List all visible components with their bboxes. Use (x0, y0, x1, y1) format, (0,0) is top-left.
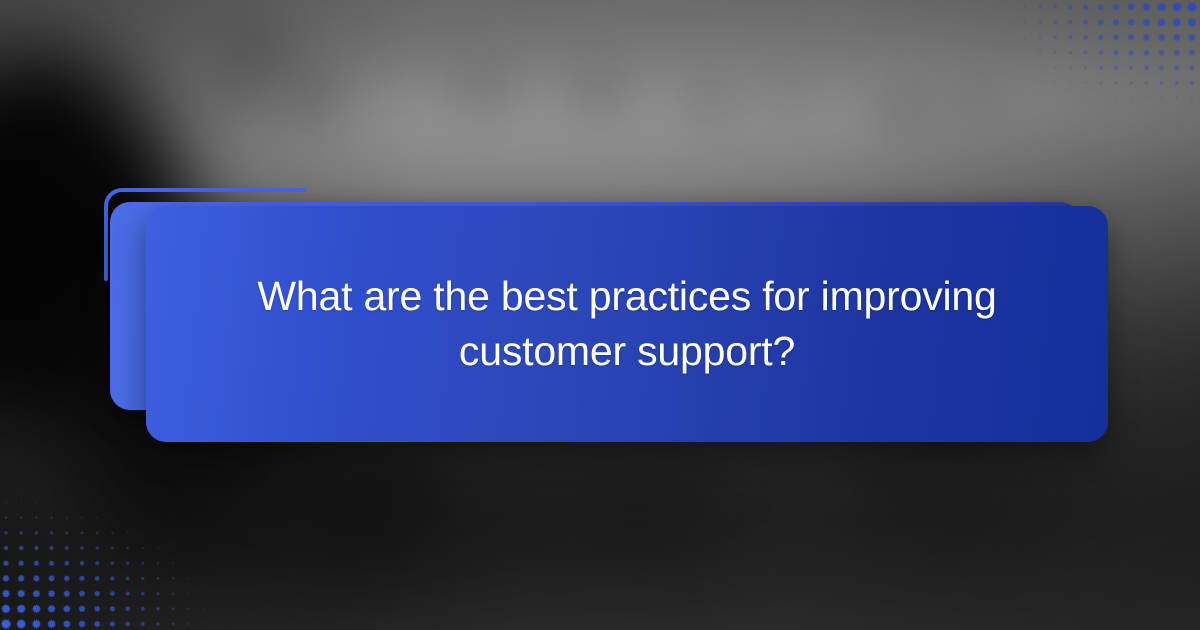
social-card-canvas: What are the best practices for improvin… (0, 0, 1200, 630)
card-front-panel: What are the best practices for improvin… (146, 206, 1108, 442)
question-text: What are the best practices for improvin… (227, 269, 1027, 378)
